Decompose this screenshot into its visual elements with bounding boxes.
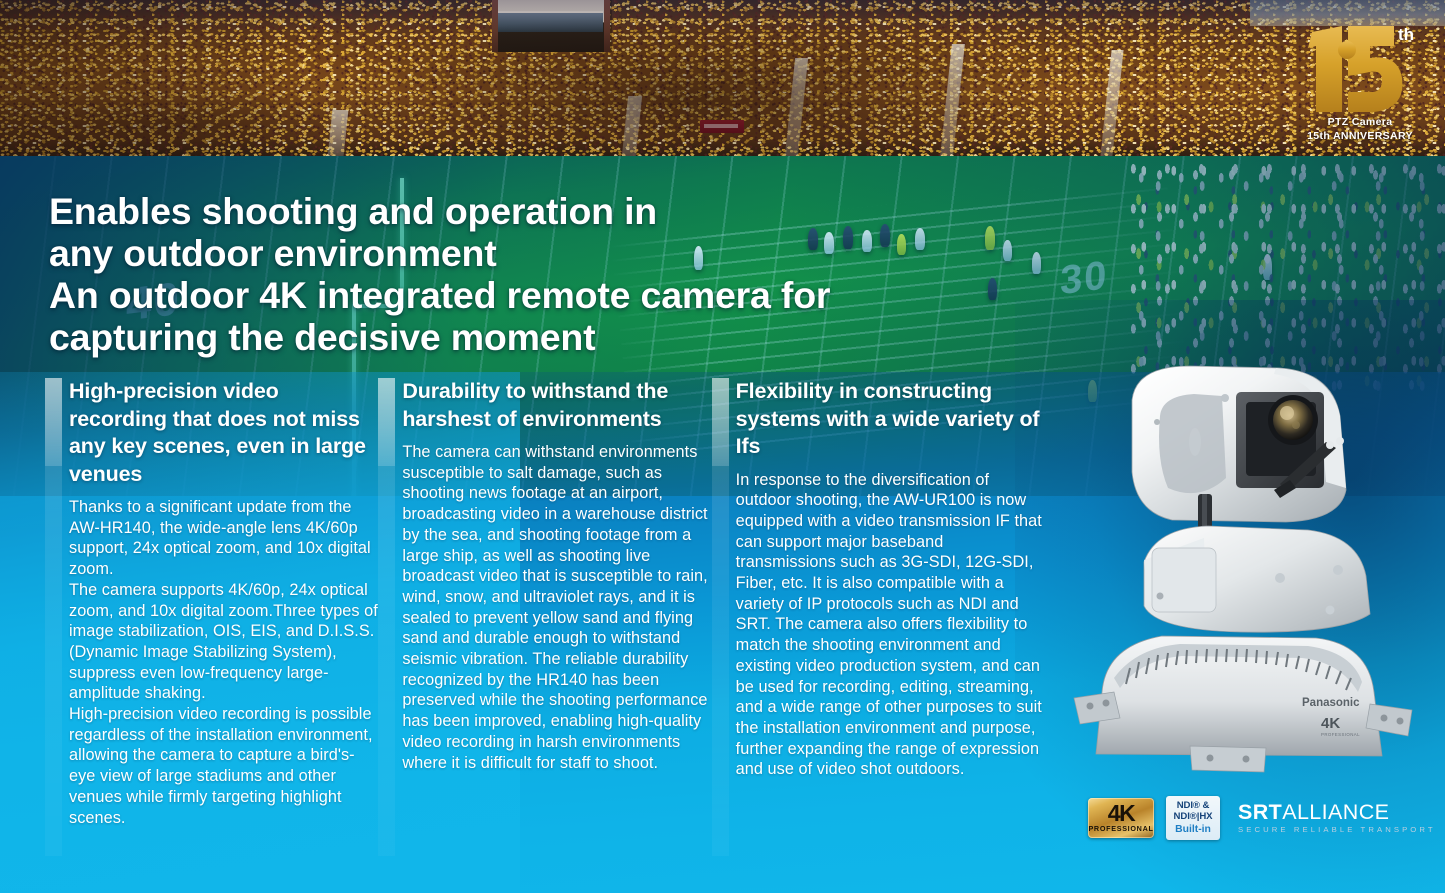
column-divider-highlight (45, 378, 62, 466)
stadium-crowd-photo (0, 0, 1445, 156)
logo-srt-sub: SECURE RELIABLE TRANSPORT (1238, 824, 1436, 835)
feature-body: Thanks to a significant update from the … (69, 497, 378, 828)
logo-ndi-built-in: NDI® & NDI®|HX Built-in (1166, 796, 1220, 840)
feature-heading: Flexibility in constructing systems with… (736, 378, 1045, 461)
feature-column-high-precision-video-recording: High-precision video recording that does… (45, 378, 378, 856)
logo-4k-main: 4K (1108, 803, 1134, 824)
headline-line-1: Enables shooting and operation in (49, 190, 949, 232)
feature-column-durability-harshest-environments: Durability to withstand the harshest of … (378, 378, 711, 856)
product-poster: 40 30 20 10 Enables shooting and operati… (0, 0, 1445, 893)
logo-ndi-line-2: NDI®|HX (1174, 811, 1213, 823)
anniversary-caption: PTZ Camera 15th ANNIVERSARY (1290, 116, 1430, 143)
logo-4k-professional: 4K PROFESSIONAL (1088, 798, 1154, 838)
feature-column-flexibility-wide-variety-ifs: Flexibility in constructing systems with… (712, 378, 1045, 856)
feature-body: In response to the diversification of ou… (736, 470, 1045, 781)
page-title: Enables shooting and operation in any ou… (49, 190, 949, 358)
feature-heading: Durability to withstand the harshest of … (402, 378, 711, 433)
headline-line-2: any outdoor environment (49, 232, 949, 274)
anniversary-caption-line-2: 15th ANNIVERSARY (1290, 130, 1430, 144)
logo-ndi-line-3: Built-in (1175, 824, 1211, 837)
svg-text:th: th (1398, 25, 1414, 44)
headline-line-3: An outdoor 4K integrated remote camera f… (49, 274, 949, 316)
anniversary-15-logo-icon: th (1290, 16, 1430, 116)
logo-srt-alliance: SRTALLIANCE SECURE RELIABLE TRANSPORT (1232, 801, 1436, 835)
anniversary-caption-line-1: PTZ Camera (1290, 116, 1430, 130)
feature-heading: High-precision video recording that does… (69, 378, 378, 488)
panasonic-brand-mark: Panasonic (1302, 697, 1360, 709)
camera-4k-badge-sub: PROFESSIONAL (1321, 732, 1360, 737)
column-divider-highlight (378, 378, 395, 466)
logo-ndi-line-1: NDI® & (1177, 800, 1210, 812)
column-divider-highlight (712, 378, 729, 466)
anniversary-badge: th PTZ Camera 15th ANNIVERSARY (1290, 16, 1430, 146)
logo-srt-bold: SRT (1238, 800, 1282, 824)
panasonic-ptz-camera-product-image: Panasonic 4K PROFESSIONAL (1040, 362, 1440, 782)
camera-illustration-icon: Panasonic 4K PROFESSIONAL (1040, 362, 1440, 782)
logo-srt-thin: ALLIANCE (1282, 800, 1389, 824)
certification-logo-row: 4K PROFESSIONAL NDI® & NDI®|HX Built-in … (1088, 796, 1436, 840)
logo-srt-main: SRTALLIANCE (1238, 801, 1436, 824)
logo-4k-sub: PROFESSIONAL (1088, 824, 1153, 833)
crowd-shadow-overlay (0, 0, 1445, 156)
feature-columns: High-precision video recording that does… (45, 378, 1045, 856)
headline-line-4: capturing the decisive moment (49, 316, 949, 358)
camera-4k-badge: 4K (1321, 715, 1340, 732)
feature-body: The camera can withstand environments su… (402, 442, 711, 773)
